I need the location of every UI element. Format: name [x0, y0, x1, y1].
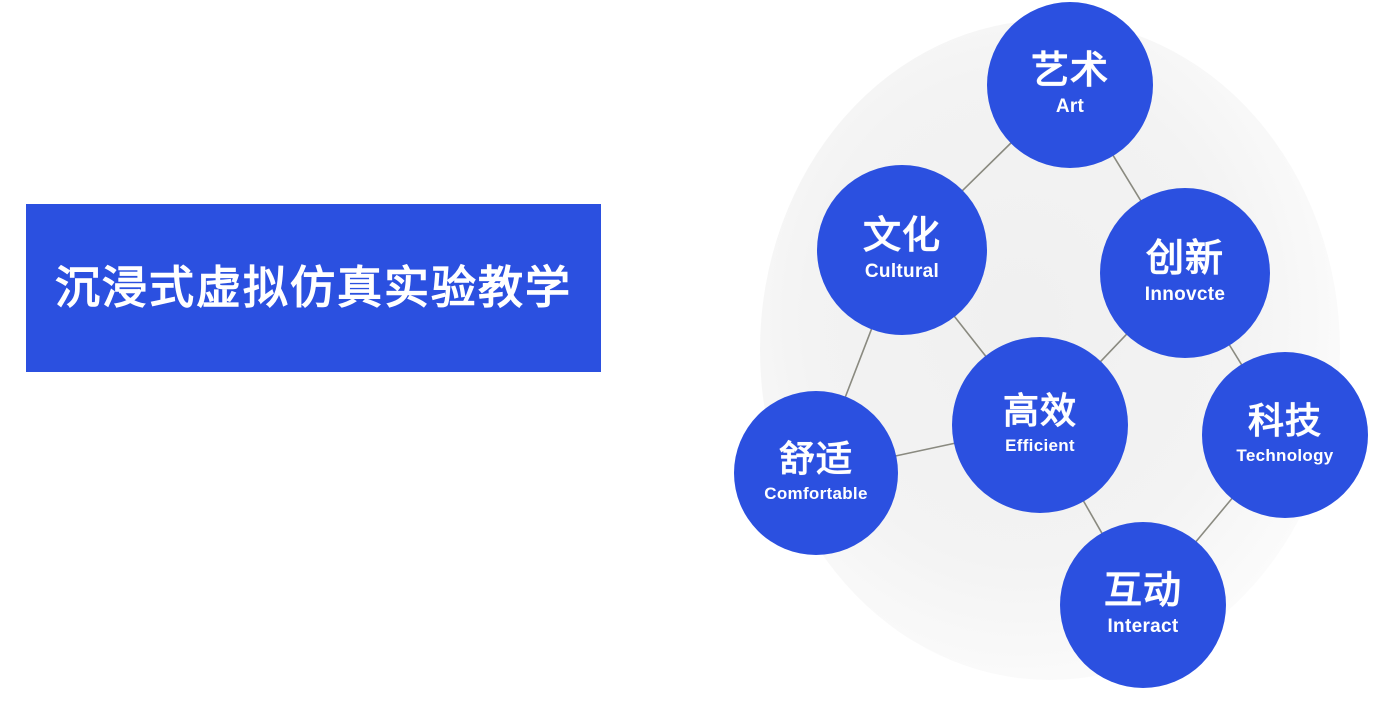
node-label-en-comfortable: Comfortable [764, 483, 867, 504]
node-bubble-technology[interactable]: 科技Technology [1202, 352, 1368, 518]
node-label-en-technology: Technology [1236, 445, 1333, 466]
node-bubble-innovate[interactable]: 创新Innovcte [1100, 188, 1270, 358]
node-label-zh-technology: 科技 [1248, 403, 1322, 441]
connector-innovate-efficient [1099, 333, 1127, 363]
node-label-en-efficient: Efficient [1005, 435, 1075, 456]
node-bubble-efficient[interactable]: 高效Efficient [952, 337, 1128, 513]
connector-innovate-technology [1229, 344, 1243, 366]
node-label-zh-art: 艺术 [1031, 51, 1109, 91]
connector-cultural-comfortable [845, 327, 872, 398]
node-bubble-interact[interactable]: 互动Interact [1060, 522, 1226, 688]
connector-art-cultural [961, 142, 1012, 192]
node-label-en-interact: Interact [1107, 615, 1178, 639]
connector-technology-interact [1195, 497, 1233, 543]
connector-comfortable-efficient [894, 443, 956, 456]
node-bubble-art[interactable]: 艺术Art [987, 2, 1153, 168]
connector-cultural-efficient [953, 315, 986, 357]
node-label-zh-innovate: 创新 [1146, 239, 1224, 279]
node-label-en-innovate: Innovcte [1145, 283, 1226, 307]
node-label-en-art: Art [1056, 95, 1084, 119]
node-label-zh-interact: 互动 [1104, 571, 1182, 611]
title-banner: 沉浸式虚拟仿真实验教学 [26, 204, 601, 372]
connector-art-innovate [1112, 154, 1141, 202]
slide-canvas: 沉浸式虚拟仿真实验教学 艺术Art文化Cultural创新Innovcte科技T… [0, 0, 1392, 711]
node-label-zh-comfortable: 舒适 [779, 441, 853, 479]
page-title: 沉浸式虚拟仿真实验教学 [55, 261, 572, 315]
node-label-en-cultural: Cultural [865, 260, 939, 284]
node-label-zh-efficient: 高效 [1003, 393, 1077, 431]
node-bubble-comfortable[interactable]: 舒适Comfortable [734, 391, 898, 555]
concept-network-diagram: 艺术Art文化Cultural创新Innovcte科技Technology高效E… [700, 0, 1392, 711]
node-bubble-cultural[interactable]: 文化Cultural [817, 165, 987, 335]
connector-efficient-interact [1083, 500, 1103, 535]
node-label-zh-cultural: 文化 [863, 216, 941, 256]
